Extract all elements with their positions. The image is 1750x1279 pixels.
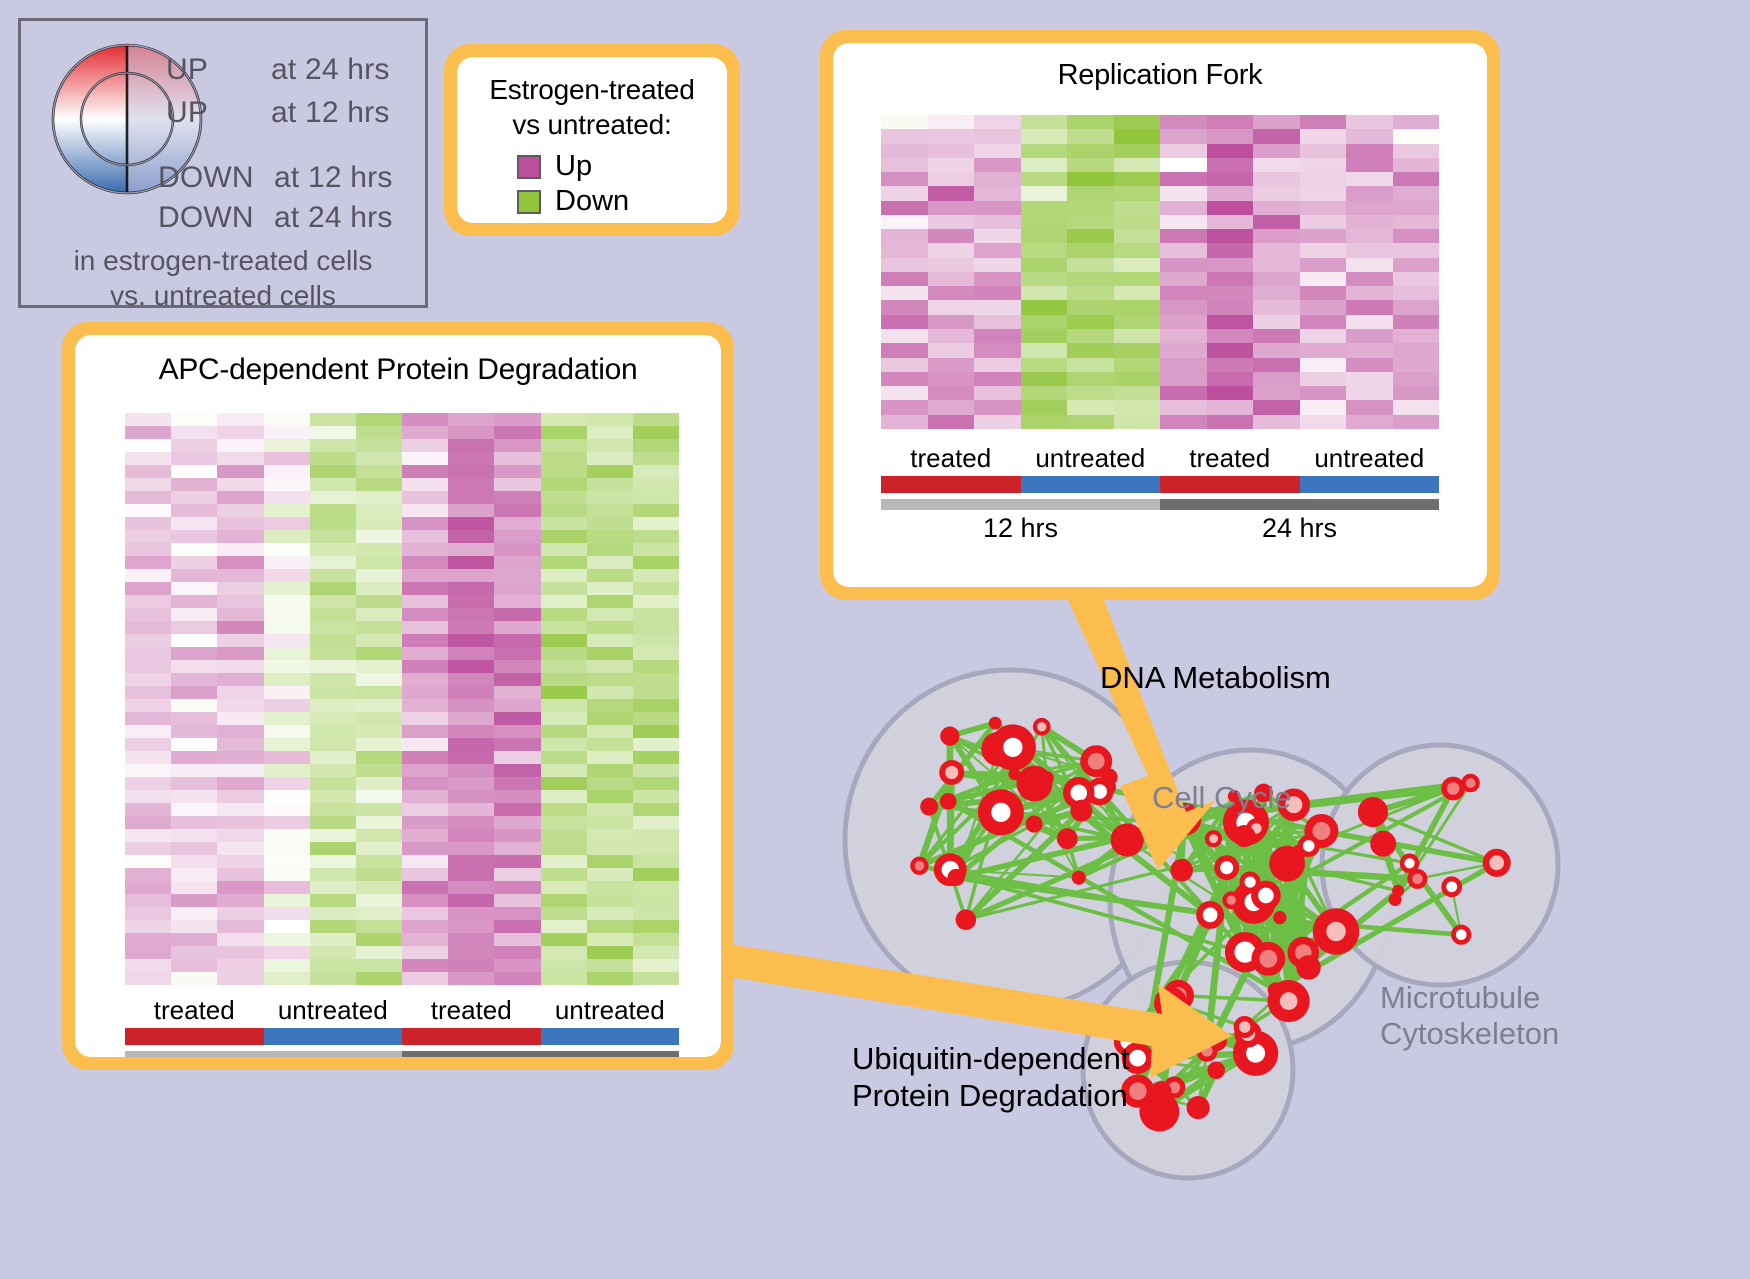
network-node[interactable] [1300, 837, 1317, 854]
network-node[interactable] [1199, 1043, 1215, 1059]
heatmap-cell [974, 358, 1021, 372]
heatmap-cell [402, 803, 448, 816]
apc-degradation-heatmap [125, 413, 679, 985]
heatmap-cell [448, 478, 494, 491]
heatmap-cell [1300, 315, 1347, 329]
heatmap-cell [448, 920, 494, 933]
heatmap-cell [541, 803, 587, 816]
heatmap-cell [310, 452, 356, 465]
heatmap-cell [171, 517, 217, 530]
heatmap-cell [356, 881, 402, 894]
heatmap-cell [881, 201, 928, 215]
heatmap-cell [310, 595, 356, 608]
heatmap-cell [310, 569, 356, 582]
heatmap-cell [217, 816, 263, 829]
network-node[interactable] [1008, 768, 1020, 780]
heatmap-cell [1021, 272, 1068, 286]
heatmap-cell [1114, 272, 1161, 286]
heatmap-cell [633, 504, 679, 517]
heatmap-cell [402, 504, 448, 517]
heatmap-cell [264, 582, 310, 595]
heatmap-cell [633, 738, 679, 751]
heatmap-cell [1021, 186, 1068, 200]
key-item-down-label: Down [555, 185, 629, 218]
heatmap-cell [125, 426, 171, 439]
heatmap-cell [171, 790, 217, 803]
heatmap-cell [1160, 315, 1207, 329]
network-node[interactable] [1199, 904, 1220, 925]
heatmap-cell [1253, 343, 1300, 357]
heatmap-cell [587, 543, 633, 556]
heatmap-cell [171, 868, 217, 881]
network-node[interactable] [1444, 779, 1462, 797]
legend-footer: in estrogen-treated cells vs. untreated … [21, 243, 425, 313]
cluster-label-microtubule-cytoskeleton: Microtubule Cytoskeleton [1380, 980, 1559, 1052]
heatmap-cell [171, 569, 217, 582]
apc-treatment-seg-1 [264, 1028, 403, 1045]
heatmap-cell [541, 517, 587, 530]
heatmap-cell [402, 829, 448, 842]
heatmap-cell [171, 907, 217, 920]
heatmap-cell [264, 530, 310, 543]
network-node[interactable] [1057, 828, 1078, 849]
heatmap-cell [633, 764, 679, 777]
network-node[interactable] [1040, 771, 1054, 785]
heatmap-cell [448, 972, 494, 985]
heatmap-cell [1207, 400, 1254, 414]
network-node[interactable] [1296, 955, 1321, 980]
heatmap-cell [448, 647, 494, 660]
heatmap-cell [1207, 415, 1254, 429]
heatmap-cell [1393, 243, 1440, 257]
heatmap-cell [264, 673, 310, 686]
heatmap-cell [171, 738, 217, 751]
heatmap-cell [881, 229, 928, 243]
heatmap-cell [974, 215, 1021, 229]
network-node[interactable] [1070, 800, 1092, 822]
heatmap-cell [1067, 229, 1114, 243]
heatmap-cell [310, 725, 356, 738]
heatmap-cell [171, 764, 217, 777]
heatmap-cell [171, 660, 217, 673]
heatmap-cell [587, 816, 633, 829]
heatmap-cell [356, 543, 402, 556]
network-node[interactable] [1084, 749, 1108, 773]
heatmap-cell [1021, 386, 1068, 400]
network-node[interactable] [1187, 1096, 1210, 1119]
heatmap-cell [1346, 201, 1393, 215]
network-node[interactable] [1207, 1061, 1225, 1079]
heatmap-cell [402, 920, 448, 933]
heatmap-cell [1253, 386, 1300, 400]
heatmap-cell [587, 933, 633, 946]
heatmap-cell [1067, 386, 1114, 400]
heatmap-cell [1300, 144, 1347, 158]
heatmap-cell [1393, 215, 1440, 229]
network-node[interactable] [1224, 893, 1238, 907]
heatmap-cell [171, 439, 217, 452]
legend-up-12-time: at 12 hrs [271, 96, 390, 130]
heatmap-cell [633, 465, 679, 478]
heatmap-cell [1067, 115, 1114, 129]
heatmap-cell [171, 933, 217, 946]
heatmap-cell [402, 725, 448, 738]
heatmap-cell [125, 582, 171, 595]
network-node[interactable] [1233, 825, 1255, 847]
heatmap-cell [264, 894, 310, 907]
heatmap-cell [217, 634, 263, 647]
heatmap-cell [1300, 386, 1347, 400]
heatmap-cell [541, 829, 587, 842]
heatmap-cell [125, 946, 171, 959]
heatmap-cell [541, 790, 587, 803]
heatmap-cell [1114, 300, 1161, 314]
network-node[interactable] [956, 909, 977, 930]
heatmap-cell [1393, 372, 1440, 386]
heatmap-cell [494, 543, 540, 556]
heatmap-cell [1160, 415, 1207, 429]
heatmap-cell [1207, 258, 1254, 272]
heatmap-cell [264, 933, 310, 946]
heatmap-cell [310, 556, 356, 569]
heatmap-cell [494, 647, 540, 660]
heatmap-cell [1114, 172, 1161, 186]
heatmap-cell [1300, 115, 1347, 129]
heatmap-cell [356, 673, 402, 686]
heatmap-cell [310, 582, 356, 595]
heatmap-cell [1067, 258, 1114, 272]
heatmap-cell [217, 712, 263, 725]
heatmap-cell [1067, 186, 1114, 200]
rf-treatment-bar [881, 476, 1439, 493]
network-node[interactable] [1358, 797, 1388, 827]
heatmap-cell [125, 530, 171, 543]
heatmap-cell [356, 829, 402, 842]
network-node[interactable] [940, 727, 959, 746]
heatmap-cell [1160, 386, 1207, 400]
heatmap-cell [171, 894, 217, 907]
heatmap-cell [1393, 343, 1440, 357]
heatmap-cell [1346, 315, 1393, 329]
network-node[interactable] [1111, 823, 1144, 856]
heatmap-cell [448, 491, 494, 504]
heatmap-cell [881, 400, 928, 414]
heatmap-cell [310, 842, 356, 855]
heatmap-cell [217, 608, 263, 621]
heatmap-cell [217, 959, 263, 972]
heatmap-cell [171, 972, 217, 985]
heatmap-cell [1393, 286, 1440, 300]
heatmap-cell [1393, 201, 1440, 215]
network-node[interactable] [1217, 858, 1236, 877]
heatmap-cell [541, 595, 587, 608]
network-node[interactable] [989, 717, 1002, 730]
heatmap-cell [587, 556, 633, 569]
apc-treatment-seg-0 [125, 1028, 264, 1045]
heatmap-cell [1346, 144, 1393, 158]
network-node[interactable] [1463, 776, 1477, 790]
heatmap-cell [974, 300, 1021, 314]
heatmap-cell [125, 725, 171, 738]
heatmap-cell [541, 686, 587, 699]
network-node[interactable] [1444, 879, 1460, 895]
heatmap-cell [402, 517, 448, 530]
heatmap-cell [448, 686, 494, 699]
heatmap-cell [974, 172, 1021, 186]
heatmap-cell [310, 972, 356, 985]
heatmap-cell [541, 543, 587, 556]
heatmap-cell [1207, 186, 1254, 200]
heatmap-cell [1067, 201, 1114, 215]
heatmap-cell [1393, 144, 1440, 158]
network-node[interactable] [1268, 982, 1284, 998]
network-node[interactable] [1402, 856, 1417, 871]
heatmap-cell [448, 465, 494, 478]
heatmap-cell [1393, 172, 1440, 186]
heatmap-cell [264, 504, 310, 517]
heatmap-cell [541, 738, 587, 751]
network-node[interactable] [1236, 1019, 1253, 1036]
heatmap-cell [1300, 372, 1347, 386]
replication-fork-heatmap [881, 115, 1439, 429]
heatmap-cell [928, 400, 975, 414]
heatmap-cell [356, 608, 402, 621]
heatmap-cell [217, 478, 263, 491]
heatmap-cell [633, 543, 679, 556]
heatmap-cell [1253, 115, 1300, 129]
heatmap-cell [974, 201, 1021, 215]
heatmap-cell [264, 738, 310, 751]
heatmap-cell [264, 569, 310, 582]
heatmap-cell [1346, 258, 1393, 272]
heatmap-cell [310, 426, 356, 439]
network-node[interactable] [1273, 911, 1286, 924]
legend-down-24-time: at 24 hrs [274, 201, 393, 235]
heatmap-cell [448, 556, 494, 569]
heatmap-cell [881, 358, 928, 372]
heatmap-cell [448, 595, 494, 608]
heatmap-cell [217, 790, 263, 803]
heatmap-cell [541, 842, 587, 855]
heatmap-cell [402, 868, 448, 881]
key-item-up-label: Up [555, 150, 592, 183]
heatmap-cell [1253, 215, 1300, 229]
heatmap-cell [264, 842, 310, 855]
heatmap-cell [402, 686, 448, 699]
heatmap-cell [356, 595, 402, 608]
heatmap-cell [587, 790, 633, 803]
heatmap-cell [264, 660, 310, 673]
heatmap-cell [402, 816, 448, 829]
network-node[interactable] [1151, 1081, 1171, 1101]
heatmap-cell [633, 582, 679, 595]
heatmap-cell [1160, 215, 1207, 229]
network-node[interactable] [1072, 871, 1086, 885]
heatmap-cell [974, 243, 1021, 257]
heatmap-cell [494, 777, 540, 790]
heatmap-cell [217, 647, 263, 660]
heatmap-cell [541, 868, 587, 881]
heatmap-cell [171, 647, 217, 660]
heatmap-cell [356, 751, 402, 764]
heatmap-cell [1253, 286, 1300, 300]
heatmap-cell [587, 777, 633, 790]
heatmap-cell [633, 452, 679, 465]
heatmap-cell [1021, 358, 1068, 372]
heatmap-cell [171, 699, 217, 712]
network-node[interactable] [1370, 831, 1396, 857]
network-node[interactable] [920, 798, 938, 816]
heatmap-cell [125, 517, 171, 530]
heatmap-cell [217, 907, 263, 920]
heatmap-cell [264, 881, 310, 894]
heatmap-cell [1207, 115, 1254, 129]
heatmap-cell [494, 764, 540, 777]
network-node[interactable] [1410, 871, 1425, 886]
heatmap-cell [1067, 272, 1114, 286]
heatmap-cell [125, 881, 171, 894]
network-node[interactable] [1025, 815, 1042, 832]
heatmap-cell [171, 816, 217, 829]
heatmap-cell [310, 933, 356, 946]
heatmap-cell [1160, 272, 1207, 286]
heatmap-cell [171, 413, 217, 426]
network-node[interactable] [912, 859, 926, 873]
heatmap-cell [356, 855, 402, 868]
heatmap-cell [125, 647, 171, 660]
network-node[interactable] [1486, 852, 1507, 873]
heatmap-cell [494, 920, 540, 933]
heatmap-cell [881, 186, 928, 200]
network-node[interactable] [1207, 832, 1220, 845]
network-node[interactable] [940, 793, 957, 810]
heatmap-cell [310, 803, 356, 816]
heatmap-cell [1021, 115, 1068, 129]
heatmap-cell [494, 608, 540, 621]
heatmap-cell [1114, 329, 1161, 343]
heatmap-cell [264, 439, 310, 452]
heatmap-cell [356, 491, 402, 504]
heatmap-cell [1393, 358, 1440, 372]
key-title-line2: vs untreated: [457, 108, 727, 143]
heatmap-cell [217, 582, 263, 595]
heatmap-cell [448, 738, 494, 751]
replication-fork-panel: Replication Fork treated untreated treat… [820, 30, 1500, 600]
heatmap-cell [402, 439, 448, 452]
heatmap-cell [171, 582, 217, 595]
heatmap-cell [125, 920, 171, 933]
heatmap-cell [587, 764, 633, 777]
heatmap-cell [1393, 186, 1440, 200]
heatmap-cell [494, 894, 540, 907]
network-node[interactable] [1035, 720, 1049, 734]
key-item-down: Down [517, 185, 727, 218]
heatmap-cell [356, 478, 402, 491]
heatmap-cell [1067, 358, 1114, 372]
heatmap-cell [310, 465, 356, 478]
heatmap-cell [1207, 201, 1254, 215]
heatmap-cell [633, 920, 679, 933]
heatmap-cell [587, 595, 633, 608]
heatmap-cell [1253, 243, 1300, 257]
heatmap-cell [125, 491, 171, 504]
heatmap-cell [448, 621, 494, 634]
heatmap-cell [1160, 258, 1207, 272]
rf-treatment-seg-3 [1300, 476, 1440, 493]
heatmap-cell [494, 673, 540, 686]
heatmap-cell [264, 777, 310, 790]
network-node[interactable] [1170, 859, 1193, 882]
heatmap-cell [171, 881, 217, 894]
replication-fork-title: Replication Fork [833, 43, 1487, 92]
heatmap-cell [125, 959, 171, 972]
heatmap-cell [1160, 229, 1207, 243]
apc-treatment-seg-3 [541, 1028, 680, 1045]
heatmap-cell [587, 621, 633, 634]
heatmap-cell [217, 426, 263, 439]
heatmap-cell [402, 842, 448, 855]
apc-timepoint-seg-24h [402, 1051, 679, 1057]
heatmap-cell [494, 712, 540, 725]
heatmap-cell [541, 634, 587, 647]
heatmap-cell [171, 543, 217, 556]
heatmap-cell [448, 764, 494, 777]
heatmap-cell [1067, 286, 1114, 300]
heatmap-cell [974, 158, 1021, 172]
heatmap-cell [310, 543, 356, 556]
heatmap-cell [310, 920, 356, 933]
heatmap-cell [633, 530, 679, 543]
heatmap-cell [541, 816, 587, 829]
heatmap-cell [402, 751, 448, 764]
heatmap-cell [1021, 144, 1068, 158]
network-node[interactable] [1155, 992, 1169, 1006]
heatmap-cell [1160, 158, 1207, 172]
heatmap-cell [928, 158, 975, 172]
heatmap-cell [217, 842, 263, 855]
network-node[interactable] [1255, 946, 1281, 972]
heatmap-cell [587, 972, 633, 985]
key-title-line1: Estrogen-treated [457, 73, 727, 108]
network-node[interactable] [1392, 885, 1404, 897]
heatmap-cell [494, 790, 540, 803]
heatmap-cell [494, 660, 540, 673]
heatmap-cell [494, 504, 540, 517]
heatmap-cell [541, 855, 587, 868]
heatmap-cell [402, 465, 448, 478]
heatmap-cell [125, 608, 171, 621]
heatmap-cell [217, 530, 263, 543]
network-node[interactable] [942, 763, 961, 782]
heatmap-cell [171, 777, 217, 790]
heatmap-cell [1067, 129, 1114, 143]
heatmap-cell [1021, 129, 1068, 143]
heatmap-cell [881, 372, 928, 386]
heatmap-cell [402, 777, 448, 790]
heatmap-cell [1393, 229, 1440, 243]
network-node[interactable] [948, 869, 965, 886]
network-node[interactable] [1255, 884, 1278, 907]
heatmap-cell [264, 621, 310, 634]
network-node[interactable] [1454, 927, 1469, 942]
heatmap-cell [1114, 229, 1161, 243]
heatmap-cell [402, 764, 448, 777]
heatmap-cell [217, 764, 263, 777]
heatmap-cell [928, 172, 975, 186]
heatmap-cell [928, 315, 975, 329]
heatmap-cell [217, 517, 263, 530]
heatmap-cell [171, 556, 217, 569]
